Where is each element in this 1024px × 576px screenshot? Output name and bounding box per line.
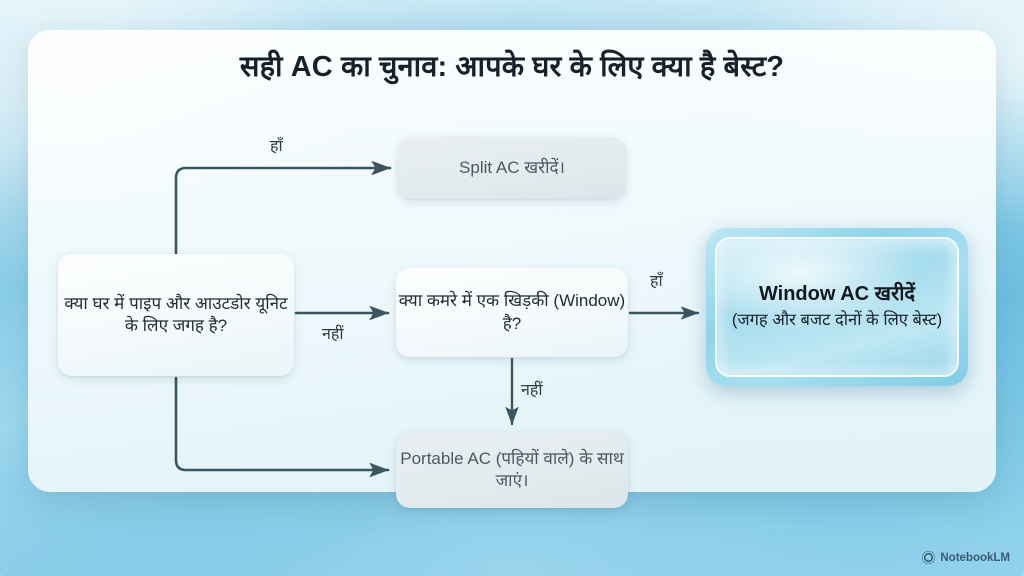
notebooklm-watermark: NotebookLM <box>922 551 1010 564</box>
node-window-ac[interactable]: Window AC खरीदें (जगह और बजट दोनों के लि… <box>706 228 968 386</box>
node-window-ac-subtitle: (जगह और बजट दोनों के लिए बेस्ट) <box>732 310 942 331</box>
slide-canvas: सही AC का चुनाव: आपके घर के लिए क्या है … <box>0 0 1024 576</box>
node-window-question[interactable]: क्या कमरे में एक खिड़की (Window) है? <box>396 268 628 357</box>
notebooklm-icon <box>922 551 935 564</box>
notebooklm-label: NotebookLM <box>940 552 1010 564</box>
edge-label-no-portable: नहीं <box>521 378 543 400</box>
edge-label-yes-split: हाँ <box>270 134 283 156</box>
node-portable-ac[interactable]: Portable AC (पहियों वाले) के साथ जाएं। <box>396 432 628 508</box>
node-space-question[interactable]: क्या घर में पाइप और आउटडोर यूनिट के लिए … <box>58 254 294 376</box>
node-split-ac[interactable]: Split AC खरीदें। <box>398 137 626 199</box>
page-title: सही AC का चुनाव: आपके घर के लिए क्या है … <box>0 46 1024 85</box>
node-window-ac-title: Window AC खरीदें <box>759 282 915 307</box>
node-window-ac-inner: Window AC खरीदें (जगह और बजट दोनों के लि… <box>715 237 959 377</box>
edge-label-yes-window-ac: हाँ <box>650 269 663 291</box>
edge-label-no-window-question: नहीं <box>322 322 344 344</box>
